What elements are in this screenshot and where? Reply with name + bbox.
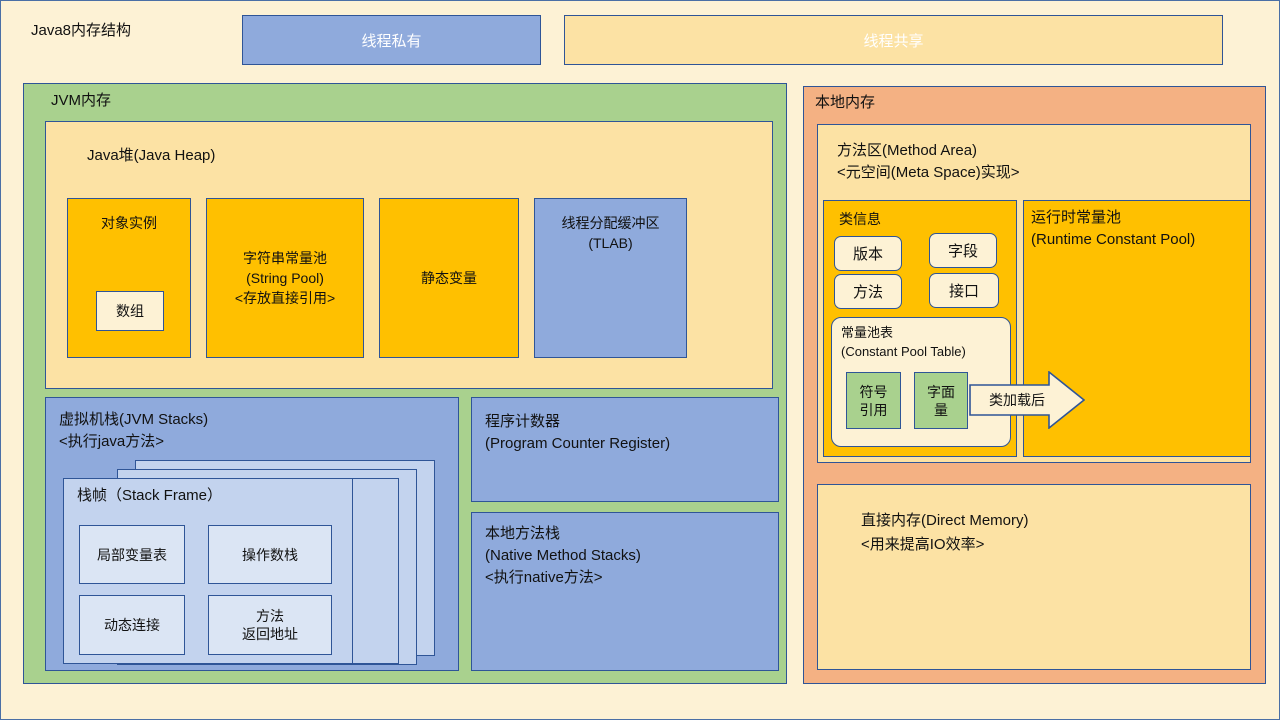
heap-static-variables-box: 静态变量 [379, 198, 519, 358]
page-title: Java8内存结构 [31, 17, 241, 45]
class-info-version-box: 版本 [834, 236, 902, 271]
dynamic-linking-box: 动态连接 [79, 595, 185, 655]
operand-stack-box: 操作数栈 [208, 525, 332, 584]
constant-pool-table-label: 常量池表 (Constant Pool Table) [841, 323, 1011, 363]
jvm-stacks-label: 虚拟机栈(JVM Stacks) <执行java方法> [59, 409, 399, 453]
method-area-label: 方法区(Method Area) <元空间(Meta Space)实现> [837, 140, 1227, 186]
heap-static-variables-label: 静态变量 [421, 268, 477, 288]
jvm-memory-label: JVM内存 [51, 89, 251, 113]
diagram-canvas: Java8内存结构 线程私有 线程共享 JVM内存 Java堆(Java Hea… [1, 1, 1279, 719]
heap-tlab-box: 线程分配缓冲区 (TLAB) [534, 198, 687, 358]
runtime-constant-pool-label: 运行时常量池 (Runtime Constant Pool) [1031, 207, 1256, 253]
native-memory-label: 本地内存 [815, 91, 1015, 115]
class-info-interface-box: 接口 [929, 273, 999, 308]
legend-thread-private-label: 线程私有 [361, 30, 421, 51]
legend-thread-shared: 线程共享 [564, 15, 1223, 65]
heap-string-pool-label: 字符串常量池 (String Pool) <存放直接引用> [235, 248, 335, 308]
pc-register-label: 程序计数器 (Program Counter Register) [485, 411, 775, 459]
method-return-address-box: 方法 返回地址 [208, 595, 332, 655]
heap-tlab-label: 线程分配缓冲区 (TLAB) [562, 213, 660, 253]
stack-frame-label: 栈帧（Stack Frame） [77, 484, 337, 508]
class-info-field-box: 字段 [929, 233, 997, 268]
class-info-method-box: 方法 [834, 274, 902, 309]
class-load-arrow-label: 类加载后 [979, 386, 1055, 414]
legend-thread-shared-label: 线程共享 [863, 30, 923, 51]
java-heap-label: Java堆(Java Heap) [87, 144, 387, 168]
literal-box: 字面 量 [914, 372, 968, 429]
heap-object-instance-box: 对象实例 数组 [67, 198, 191, 358]
class-info-label: 类信息 [839, 207, 999, 231]
legend-thread-private: 线程私有 [242, 15, 541, 65]
native-method-stacks-label: 本地方法栈 (Native Method Stacks) <执行native方法… [485, 523, 775, 595]
direct-memory-label: 直接内存(Direct Memory) <用来提高IO效率> [861, 509, 1241, 557]
heap-array-box: 数组 [96, 291, 164, 331]
local-variable-table-box: 局部变量表 [79, 525, 185, 584]
heap-object-instance-label: 对象实例 [101, 213, 157, 233]
heap-string-pool-box: 字符串常量池 (String Pool) <存放直接引用> [206, 198, 364, 358]
symbolic-reference-box: 符号 引用 [846, 372, 901, 429]
